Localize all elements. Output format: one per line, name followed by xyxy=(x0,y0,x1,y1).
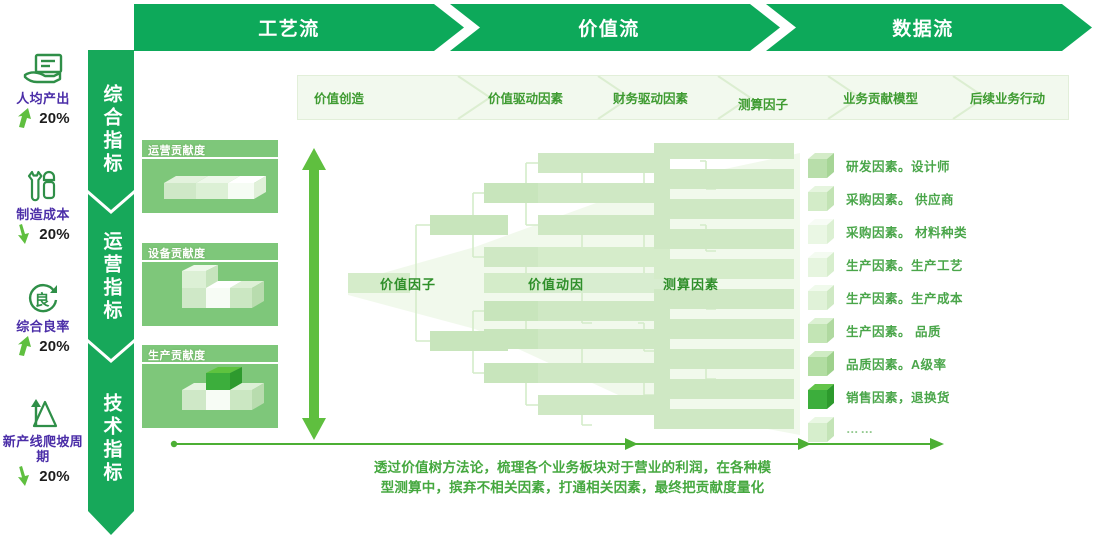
list-item[interactable]: 生产因素。 品质 xyxy=(806,315,941,345)
trend-down-icon xyxy=(16,465,36,487)
kpi-value: 20% xyxy=(39,468,70,485)
substage-label: 价值创造 xyxy=(314,88,364,107)
substage-item-3[interactable]: 测算因子 xyxy=(738,82,788,125)
list-item-label: 生产因素。生产成本 xyxy=(846,288,963,307)
caption-line-2: 型测算中，摈弃不相关因素，打通相关因素，最终把贡献度量化 xyxy=(310,478,835,498)
panel-title: 设备贡献度 xyxy=(148,245,206,261)
list-item-label: …… xyxy=(846,422,875,436)
ribbon-segment-2[interactable]: 技术指标 xyxy=(88,343,134,535)
list-item[interactable]: 品质因素。A级率 xyxy=(806,348,947,378)
kpi-item-3[interactable]: 新产线爬坡周期 20% xyxy=(0,393,86,487)
substage-item-5[interactable]: 后续业务行动 xyxy=(970,76,1045,119)
cube-icon xyxy=(806,150,836,180)
list-item[interactable]: 研发因素。设计师 xyxy=(806,150,950,180)
funnel-stage-label-0: 价值因子 xyxy=(380,274,436,293)
caption-line-1: 透过价值树方法论，梳理各个业务板块对于营业的利润，在各种模 xyxy=(310,458,835,478)
substage-item-4[interactable]: 业务贡献模型 xyxy=(843,76,918,119)
list-item-label: 采购因素。 材料种类 xyxy=(846,222,967,241)
kpi-label: 人均产出 xyxy=(0,91,86,106)
substage-label: 测算因子 xyxy=(738,94,788,113)
flow-label: 数据流 xyxy=(892,14,954,41)
ribbon-label: 综合指标 xyxy=(100,84,123,176)
trend-up-icon xyxy=(16,335,36,357)
funnel-stage-label-2: 测算因素 xyxy=(663,274,719,293)
list-item-label: 生产因素。 品质 xyxy=(846,321,941,340)
kpi-value: 20% xyxy=(39,110,70,127)
kpi-item-1[interactable]: 制造成本 20% xyxy=(0,166,86,245)
panel-title: 生产贡献度 xyxy=(148,347,206,363)
list-item-label: 销售因素，退换货 xyxy=(846,387,950,406)
kpi-value: 20% xyxy=(39,338,70,355)
cube-icon xyxy=(806,183,836,213)
substage-label: 财务驱动因素 xyxy=(613,88,688,107)
panel-blocks xyxy=(142,260,278,326)
ramp-up-icon xyxy=(0,393,86,433)
flow-segment-process[interactable]: 工艺流 xyxy=(134,4,464,51)
funnel-graphic xyxy=(330,143,830,443)
cube-icon-highlight xyxy=(806,381,836,411)
yield-cycle-icon: 良 xyxy=(0,278,86,318)
substage-item-2[interactable]: 财务驱动因素 xyxy=(613,76,688,119)
kpi-label: 制造成本 xyxy=(0,207,86,222)
list-item-label: 品质因素。A级率 xyxy=(846,354,947,373)
caption-text: 透过价值树方法论，梳理各个业务板块对于营业的利润，在各种模 型测算中，摈弃不相关… xyxy=(310,458,835,498)
hand-document-icon xyxy=(0,50,86,90)
svg-text:良: 良 xyxy=(34,291,49,309)
panel-blocks xyxy=(142,157,278,213)
panel-title: 运营贡献度 xyxy=(148,142,206,158)
list-item-label: 研发因素。设计师 xyxy=(846,156,950,175)
list-item[interactable]: 销售因素，退换货 xyxy=(806,381,950,411)
kpi-item-2[interactable]: 良 综合良率 20% xyxy=(0,278,86,357)
list-item[interactable]: 采购因素。 供应商 xyxy=(806,183,954,213)
flow-segment-value[interactable]: 价值流 xyxy=(450,4,780,51)
list-item[interactable]: 生产因素。生产工艺 xyxy=(806,249,963,279)
flow-label: 工艺流 xyxy=(258,14,320,41)
cube-icon xyxy=(806,315,836,345)
kpi-item-0[interactable]: 人均产出 20% xyxy=(0,50,86,129)
kpi-label: 新产线爬坡周期 xyxy=(0,434,86,464)
substage-label: 业务贡献模型 xyxy=(843,88,918,107)
value-tree-funnel: 价值因子 价值动因 测算因素 xyxy=(330,143,830,443)
substage-bar: 价值创造 价值驱动因素 财务驱动因素 测算因子 业务贡献模型 后续业务行动 xyxy=(297,75,1069,120)
cube-icon xyxy=(806,282,836,312)
flow-segment-data[interactable]: 数据流 xyxy=(766,4,1092,51)
flow-label: 价值流 xyxy=(578,14,640,41)
wrench-tools-icon xyxy=(0,166,86,206)
funnel-stage-label-1: 价值动因 xyxy=(528,274,584,293)
panel-production-contribution[interactable]: 生产贡献度 xyxy=(142,345,278,428)
ribbon-segment-1[interactable]: 运营指标 xyxy=(88,194,134,359)
kpi-value: 20% xyxy=(39,226,70,243)
substage-item-1[interactable]: 价值驱动因素 xyxy=(488,76,563,119)
flow-header: 工艺流 价值流 数据流 xyxy=(134,4,1092,51)
kpi-column: 人均产出 20% 制造成本 20% xyxy=(0,48,86,535)
panel-equipment-contribution[interactable]: 设备贡献度 xyxy=(142,243,278,326)
ribbon-segment-0[interactable]: 综合指标 xyxy=(88,50,134,210)
substage-item-0[interactable]: 价值创造 xyxy=(314,76,364,119)
trend-up-icon xyxy=(16,107,36,129)
substage-label: 后续业务行动 xyxy=(970,88,1045,107)
list-item-label: 生产因素。生产工艺 xyxy=(846,255,963,274)
list-item[interactable]: 生产因素。生产成本 xyxy=(806,282,963,312)
trend-down-icon xyxy=(16,223,36,245)
vertical-range-arrow xyxy=(299,148,329,440)
ribbon-label: 运营指标 xyxy=(100,231,123,323)
substage-label: 价值驱动因素 xyxy=(488,88,563,107)
diagram-canvas: 人均产出 20% 制造成本 20% xyxy=(0,0,1107,535)
list-item[interactable]: 采购因素。 材料种类 xyxy=(806,216,967,246)
list-item-label: 采购因素。 供应商 xyxy=(846,189,954,208)
panel-blocks xyxy=(142,362,278,428)
cube-icon xyxy=(806,348,836,378)
cube-icon xyxy=(806,249,836,279)
indicator-ribbon: 综合指标 运营指标 技术指标 xyxy=(88,50,134,535)
ribbon-label: 技术指标 xyxy=(100,393,123,485)
panel-operation-contribution[interactable]: 运营贡献度 xyxy=(142,140,278,213)
timeline-axis xyxy=(170,437,945,451)
kpi-label: 综合良率 xyxy=(0,319,86,334)
cube-icon xyxy=(806,216,836,246)
